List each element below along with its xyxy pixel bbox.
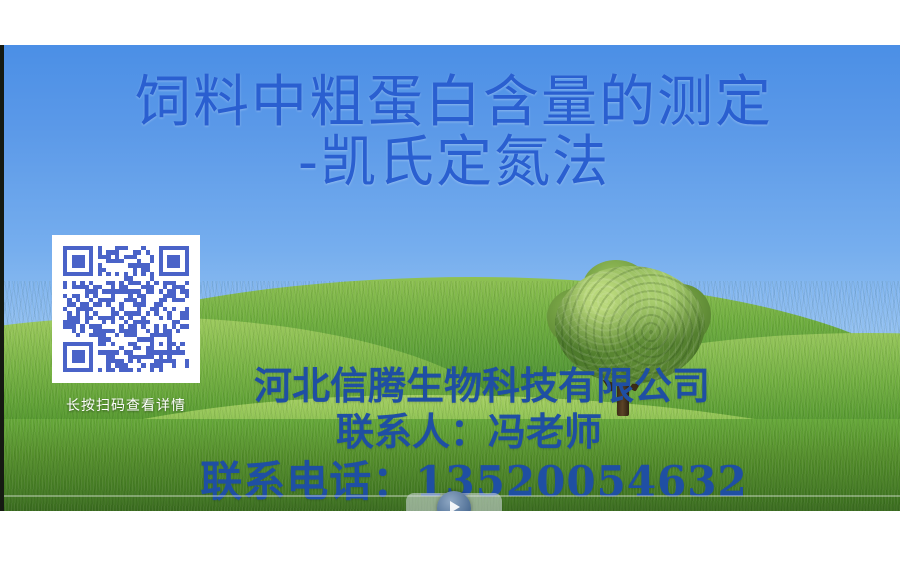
qr-code-card[interactable] (52, 235, 200, 383)
play-icon (450, 501, 460, 511)
video-player-frame[interactable]: 饲料中粗蛋白含量的测定 -凯氏定氮法 河北信腾生物科技有限公司 联系人：冯老师 … (0, 45, 900, 511)
qr-code-image[interactable] (63, 246, 189, 372)
tree-graphic (555, 266, 705, 416)
video-poster-page: 饲料中粗蛋白含量的测定 -凯氏定氮法 河北信腾生物科技有限公司 联系人：冯老师 … (0, 0, 900, 561)
qr-code-block[interactable]: 长按扫码查看详情 (52, 235, 200, 415)
qr-caption: 长按扫码查看详情 (52, 395, 200, 415)
tree-crown-texture (555, 266, 705, 384)
